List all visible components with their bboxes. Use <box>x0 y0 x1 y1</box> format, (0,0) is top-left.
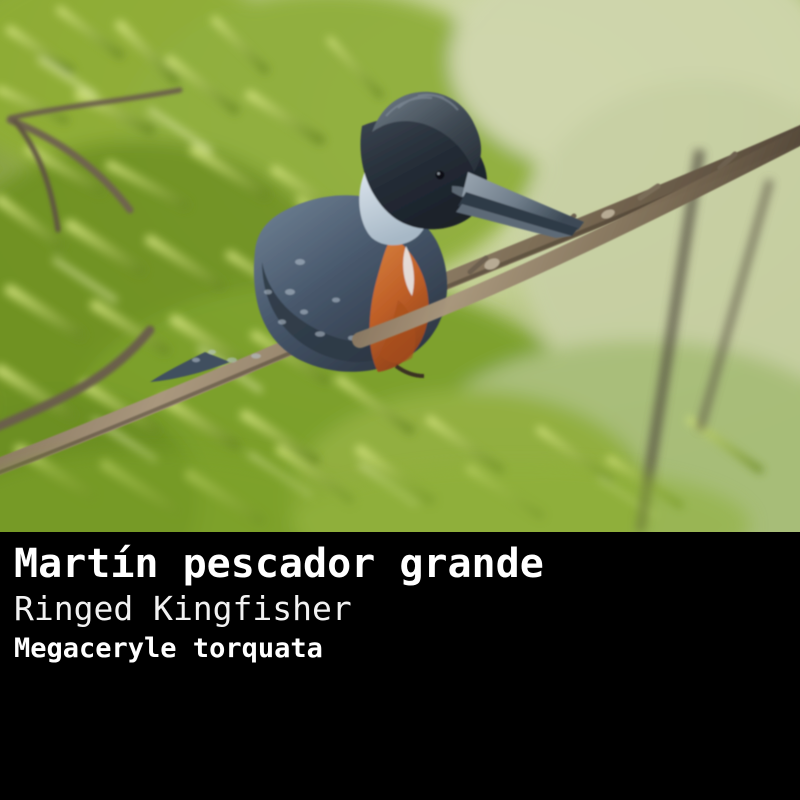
title-block: Martín pescador grande Ringed Kingfisher… <box>14 540 800 668</box>
scientific-name: Megaceryle torquata <box>14 630 794 668</box>
bird-photograph <box>0 0 800 532</box>
photo-caption-card: Martín pescador grande Ringed Kingfisher… <box>0 0 800 800</box>
caption-band: Martín pescador grande Ringed Kingfisher… <box>0 532 800 800</box>
photo-illustration <box>0 0 800 532</box>
common-name-spanish: Martín pescador grande <box>14 540 584 588</box>
common-name-english: Ringed Kingfisher <box>14 588 794 630</box>
